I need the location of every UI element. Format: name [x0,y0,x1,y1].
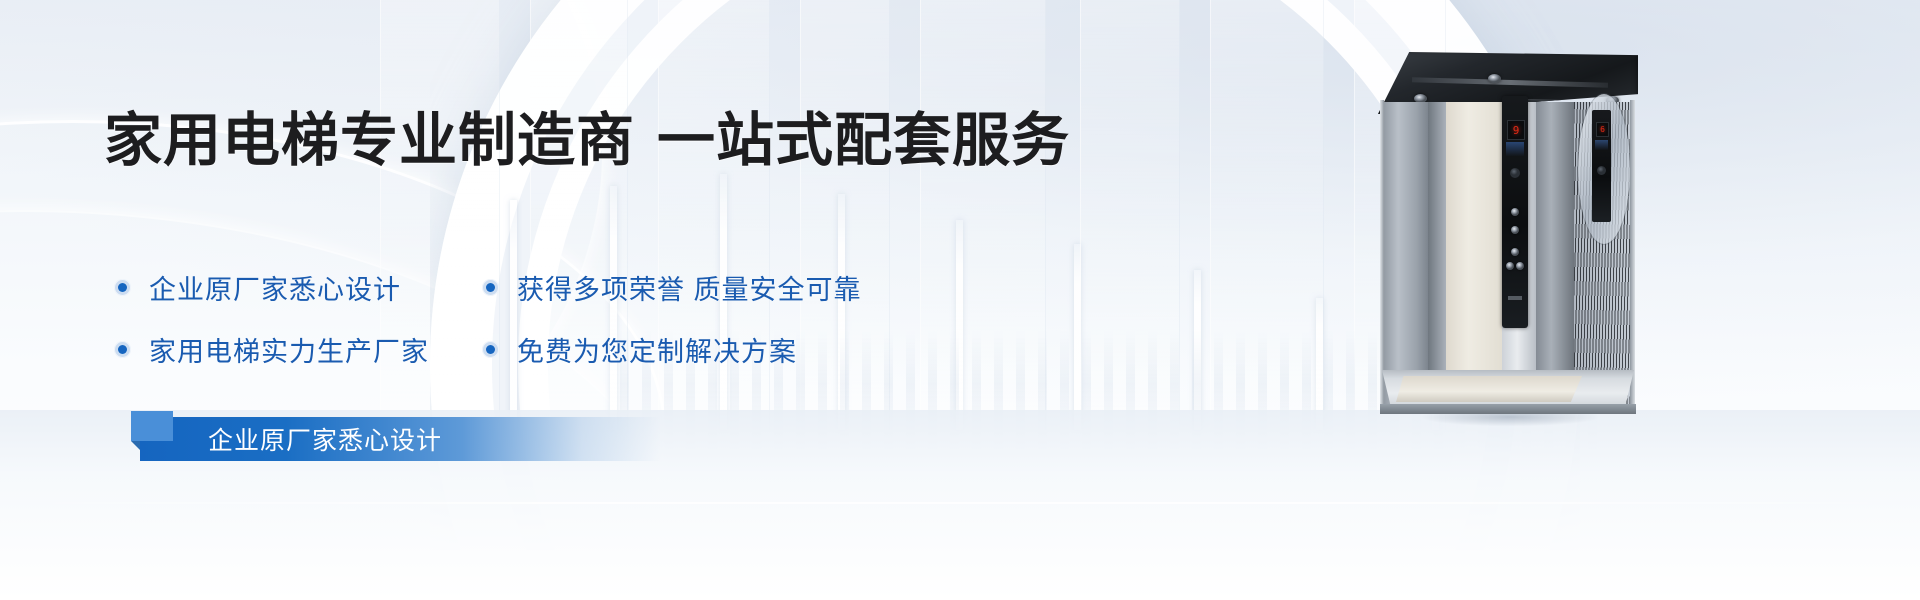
feature-label: 家用电梯实力生产厂家 [149,330,429,369]
cabin-floor-tile [1396,376,1582,402]
bullet-dot-icon [482,279,499,296]
control-panel-logo [1508,296,1522,300]
cabin-wall-left [1382,102,1428,412]
feature-label: 免费为您定制解决方案 [517,330,797,369]
feature-item: 获得多项荣誉 质量安全可靠 [482,268,942,307]
control-panel-speaker-icon [1510,168,1520,178]
headline-part-2: 一站式配套服务 [657,108,1070,173]
page-title: 家用电梯专业制造商一站式配套服务 [104,112,1070,170]
canopy-screw-icon [1488,74,1501,83]
home-elevator-image: 9 6 [1378,52,1638,412]
canopy-strip [1412,77,1608,87]
bullet-dot-icon [114,341,131,358]
floor-button[interactable] [1511,226,1519,234]
floor-indicator-digit: 9 [1513,125,1520,136]
feature-item: 家用电梯实力生产厂家 [114,330,482,369]
cabin-wall-pillar [1536,102,1574,412]
side-panel-speaker-icon [1597,166,1606,175]
side-floor-indicator-digit: 6 [1600,125,1605,134]
headline-part-1: 家用电梯专业制造商 [104,108,635,173]
floor-button[interactable] [1511,248,1519,256]
door-close-button[interactable] [1516,262,1524,270]
ribbon-flag-icon [131,411,173,441]
feature-label: 获得多项荣誉 质量安全可靠 [517,268,862,307]
bullet-dot-icon [482,341,499,358]
cabin-frame-left [1380,100,1384,412]
cabin-wall-seam [1428,102,1446,412]
banner-content: 家用电梯专业制造商一站式配套服务 企业原厂家悉心设计 获得多项荣誉 质量安全可靠… [104,0,1104,600]
feature-label: 企业原厂家悉心设计 [149,268,401,307]
elevator-control-panel: 9 [1502,96,1528,328]
elevator-side-control-panel: 6 [1592,110,1611,222]
feature-row: 企业原厂家悉心设计 获得多项荣誉 质量安全可靠 [114,256,1014,318]
bullet-dot-icon [114,279,131,296]
control-panel-branding [1506,142,1524,156]
side-panel-branding [1595,140,1608,150]
promo-banner: 家用电梯专业制造商一站式配套服务 企业原厂家悉心设计 获得多项荣誉 质量安全可靠… [0,0,1920,600]
floor-button[interactable] [1511,208,1519,216]
highlight-tag: 企业原厂家悉心设计 [140,417,660,461]
side-floor-indicator-display: 6 [1596,122,1609,137]
highlight-tag-label: 企业原厂家悉心设计 [208,421,442,457]
door-open-button[interactable] [1506,262,1514,270]
feature-item: 企业原厂家悉心设计 [114,268,482,307]
cabin-base [1380,404,1636,414]
floor-indicator-display: 9 [1507,120,1525,140]
cabin-wall-back [1446,102,1502,412]
feature-list: 企业原厂家悉心设计 获得多项荣誉 质量安全可靠 家用电梯实力生产厂家 免费为您定… [114,256,1014,380]
feature-row: 家用电梯实力生产厂家 免费为您定制解决方案 [114,318,1014,380]
feature-item: 免费为您定制解决方案 [482,330,942,369]
cabin-frame-right [1630,100,1635,412]
